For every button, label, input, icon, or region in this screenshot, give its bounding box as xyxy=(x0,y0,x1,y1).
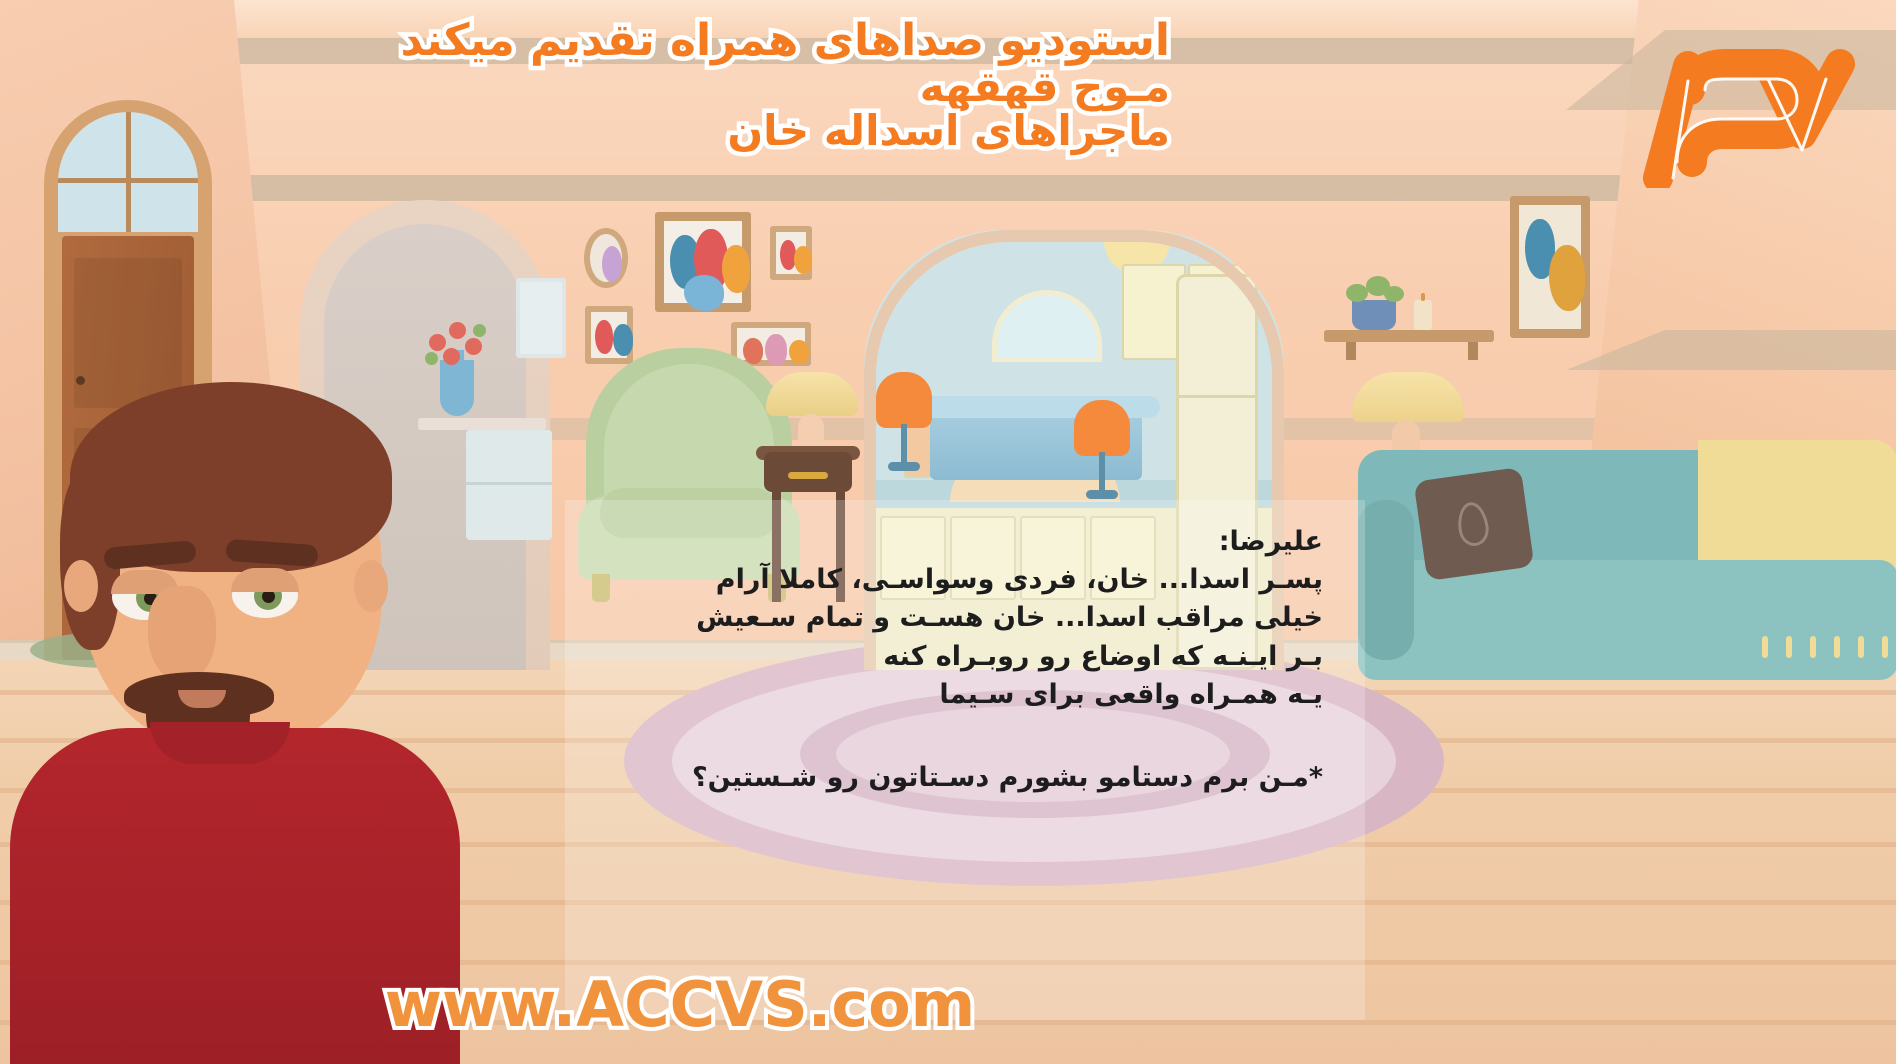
character-ear xyxy=(354,560,388,612)
candle xyxy=(1414,300,1432,330)
character-ear xyxy=(64,560,98,612)
subtitle-block: علیرضا: پسـر اسدا... خان، فردی وسواسـی، … xyxy=(565,500,1365,1020)
character-collar xyxy=(150,722,290,764)
wall-shelf xyxy=(1324,330,1494,342)
scene-canvas: استودیو صداهای همراه تقدیم میکند مـوج قه… xyxy=(0,0,1896,1064)
character-nose xyxy=(148,586,216,682)
character-eyelid xyxy=(231,568,299,592)
sofa xyxy=(1358,440,1896,700)
accvs-logo[interactable] xyxy=(1626,38,1876,188)
subtitle-note: *مـن برم دستامو بشورم دسـتاتون رو شـستین… xyxy=(593,762,1323,793)
title-line-3: ماجراهای اسداله خان xyxy=(0,109,1170,154)
title-line-2: مـوج قهقهه xyxy=(0,65,1170,110)
flower-bouquet xyxy=(425,318,489,374)
subtitle-line: بـر ایـنـه که اوضاع رو روبـراه کنه xyxy=(593,638,1323,676)
subtitle-speaker: علیرضا: xyxy=(593,526,1323,557)
drawer-handle xyxy=(788,472,828,479)
plant-pot xyxy=(1352,300,1396,330)
wall-picture-small xyxy=(770,226,812,280)
title-line-1: استودیو صداهای همراه تقدیم میکند xyxy=(0,18,1170,65)
subtitle-line: یـه همـراه واقعی برای سـیما xyxy=(593,676,1323,714)
subtitle-line: پسـر اسدا... خان، فردی وسواسـی، کاملا آر… xyxy=(593,561,1323,599)
wall-stripe xyxy=(0,175,1896,201)
wall-picture-oval xyxy=(584,228,628,288)
title-block: استودیو صداهای همراه تقدیم میکند مـوج قه… xyxy=(0,18,1180,154)
wall-picture-right xyxy=(1510,196,1590,338)
subtitle-line: خیلی مراقب اسدا... خان هسـت و تمام سـعیش xyxy=(593,599,1323,637)
wall-picture-main xyxy=(655,212,751,312)
hall-cabinet xyxy=(466,430,552,540)
character-alireza xyxy=(20,390,450,1064)
dining-chair xyxy=(876,372,932,482)
wall-picture xyxy=(516,278,566,358)
website-url[interactable]: www.ACCVS.com xyxy=(0,968,1360,1041)
sofa-cushion xyxy=(1414,467,1535,581)
dining-chair xyxy=(1074,400,1130,510)
